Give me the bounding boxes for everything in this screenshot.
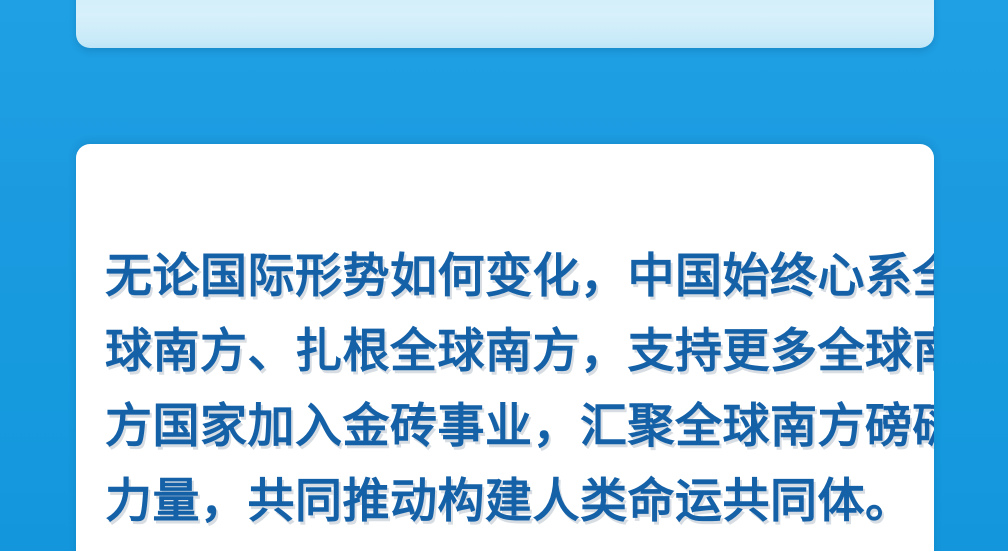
quote-line-3: 方国家加入金砖事业，汇聚全球南方磅礴: [105, 390, 905, 465]
quote-line-1: 无论国际形势如何变化，中国始终心系全: [105, 240, 905, 315]
quote-line-4: 力量，共同推动构建人类命运共同体。: [105, 465, 905, 540]
quote-poster: 无论国际形势如何变化，中国始终心系全 球南方、扎根全球南方，支持更多全球南 方国…: [0, 0, 1008, 551]
top-accent-card: [76, 0, 934, 48]
quote-card: 无论国际形势如何变化，中国始终心系全 球南方、扎根全球南方，支持更多全球南 方国…: [76, 144, 934, 551]
quote-text-block: 无论国际形势如何变化，中国始终心系全 球南方、扎根全球南方，支持更多全球南 方国…: [105, 240, 905, 540]
quote-line-2: 球南方、扎根全球南方，支持更多全球南: [105, 315, 905, 390]
